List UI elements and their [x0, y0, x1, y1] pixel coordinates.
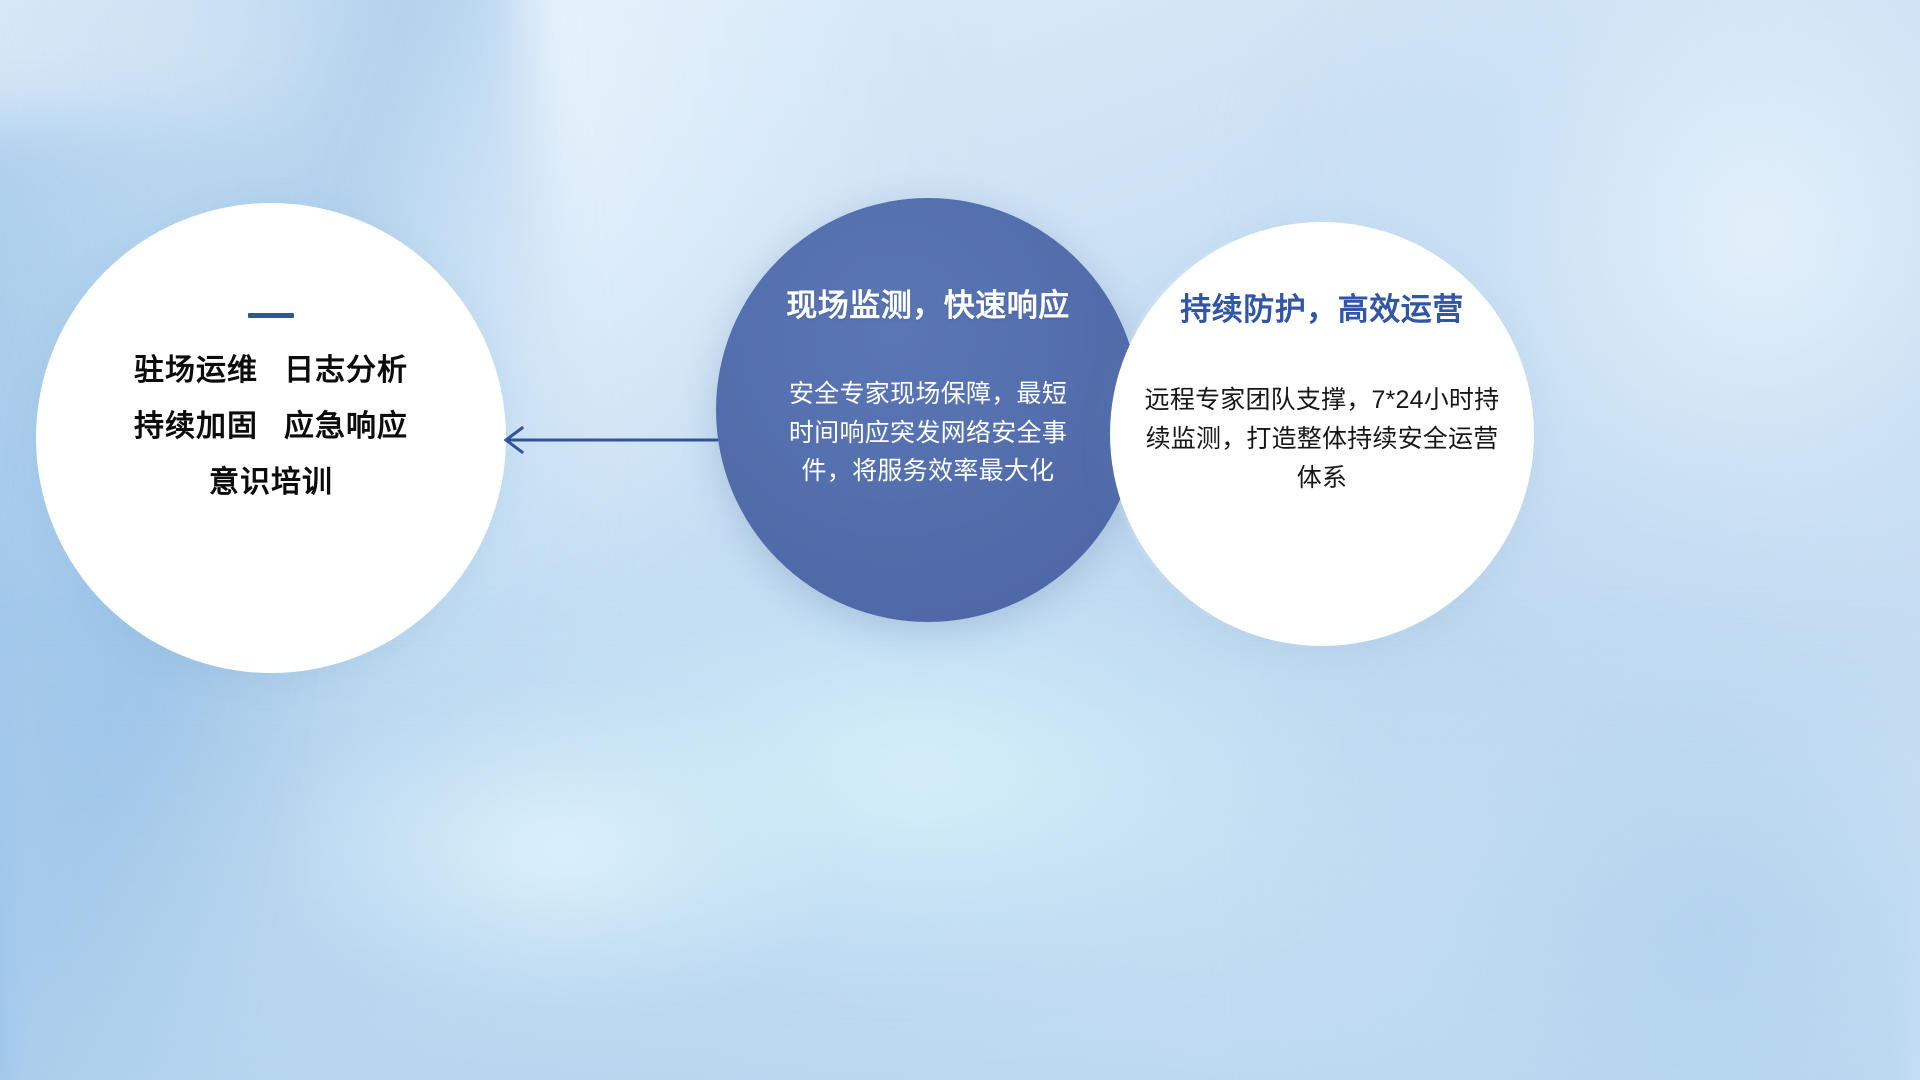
slide-canvas: 驻场运维日志分析 持续加固应急响应 意识培训 现场监测，快速响应 安全专家现场保…	[0, 0, 1920, 1080]
background-shade-bottom-right	[1260, 580, 1920, 1080]
node-capabilities[interactable]: 驻场运维日志分析 持续加固应急响应 意识培训	[36, 203, 506, 673]
flow-arrow-icon	[492, 418, 722, 462]
node-heading: 持续防护，高效运营	[1180, 294, 1464, 325]
capability-label: 持续加固	[134, 410, 258, 443]
node-heading: 现场监测，快速响应	[786, 290, 1070, 321]
capability-label: 意识培训	[209, 466, 333, 499]
divider-dash	[248, 313, 294, 318]
node-body-text: 远程专家团队支撑，7*24小时持续监测，打造整体持续安全运营体系	[1142, 381, 1502, 498]
capability-list: 驻场运维日志分析 持续加固应急响应 意识培训	[134, 356, 408, 498]
node-body-text: 安全专家现场保障，最短时间响应突发网络安全事件，将服务效率最大化	[778, 375, 1078, 491]
capability-label: 应急响应	[284, 410, 408, 443]
list-item: 驻场运维日志分析	[134, 356, 408, 386]
capability-label: 日志分析	[284, 354, 408, 387]
background-cyan-highlight-secondary	[300, 700, 820, 1000]
list-item: 意识培训	[209, 468, 333, 498]
list-item: 持续加固应急响应	[134, 412, 408, 442]
capability-label: 驻场运维	[134, 354, 258, 387]
node-onsite-monitoring[interactable]: 现场监测，快速响应 安全专家现场保障，最短时间响应突发网络安全事件，将服务效率最…	[716, 198, 1140, 622]
node-continuous-protection[interactable]: 持续防护，高效运营 远程专家团队支撑，7*24小时持续监测，打造整体持续安全运营…	[1110, 222, 1534, 646]
